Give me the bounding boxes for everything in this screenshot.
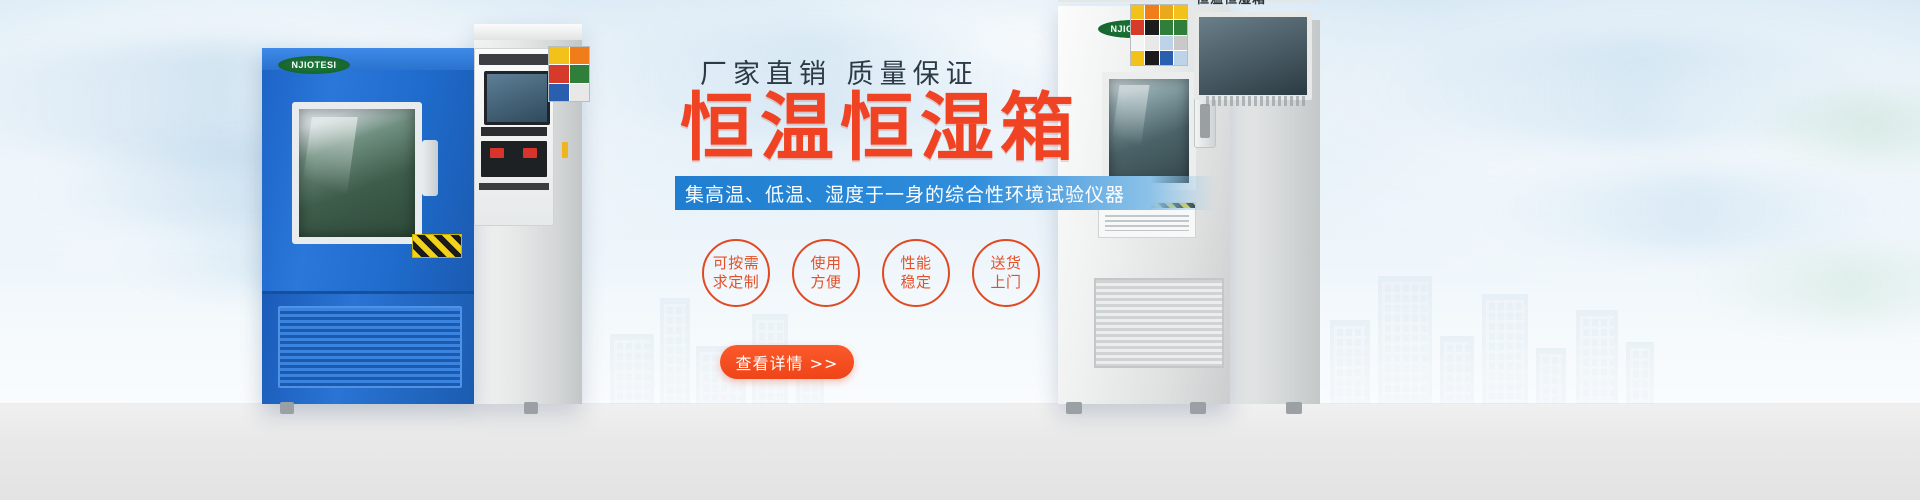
chamber-body: NJIOTESI (262, 48, 474, 404)
promo-banner: NJIOTESI (0, 0, 1920, 500)
safety-sticker (570, 84, 590, 101)
product-image-left-chamber: NJIOTESI (262, 24, 582, 404)
feature-badge-delivery[interactable]: 送货 上门 (972, 239, 1040, 307)
badge-line-2: 方便 (810, 273, 841, 292)
chamber-viewport-window (292, 102, 422, 244)
badge-line-1: 使用 (810, 254, 841, 273)
feature-badge-stable[interactable]: 性能 稳定 (882, 239, 950, 307)
badge-line-2: 上门 (990, 273, 1021, 292)
view-details-button[interactable]: 查看详情 >> (720, 345, 854, 379)
amber-indicator (562, 142, 568, 158)
control-panel-display (484, 71, 550, 125)
machine-foot (524, 402, 538, 414)
feature-badge-list: 可按需 求定制 使用 方便 性能 稳定 送货 上门 (702, 230, 1222, 316)
chamber-side-top (474, 24, 582, 40)
hazard-stripe-label (412, 234, 462, 258)
feature-badge-easy-use[interactable]: 使用 方便 (792, 239, 860, 307)
control-panel-footer (479, 183, 549, 190)
banner-copy-block: 厂家直销 质量保证 恒温恒湿箱 集高温、低温、湿度于一身的综合性环境试验仪器 可… (690, 0, 1250, 500)
safety-sticker-grid (548, 46, 590, 102)
banner-subtitle: 集高温、低温、湿度于一身的综合性环境试验仪器 (675, 180, 1125, 207)
badge-line-1: 性能 (900, 254, 931, 273)
safety-sticker (570, 65, 590, 82)
control-panel-strip (481, 127, 547, 136)
cloud-wisp (1480, 170, 1900, 250)
banner-headline: 恒温恒湿箱 (680, 86, 1200, 170)
brand-logo-text: NJIOTESI (278, 56, 350, 74)
glass-glare (298, 117, 357, 213)
chamber-lower-unit (262, 291, 474, 404)
control-panel-led-row (481, 141, 547, 177)
badge-line-1: 可按需 (713, 254, 760, 273)
city-skyline (1330, 256, 1850, 406)
badge-line-1: 送货 (990, 254, 1021, 273)
badge-line-2: 稳定 (900, 273, 931, 292)
safety-sticker (570, 47, 590, 64)
control-panel (474, 48, 554, 226)
machine-foot (1286, 402, 1302, 414)
led-indicator (523, 148, 537, 158)
control-panel-caption (479, 54, 549, 65)
safety-sticker (549, 84, 569, 101)
chamber-door-handle (422, 140, 438, 196)
ventilation-grille (278, 306, 462, 388)
led-indicator (490, 148, 504, 158)
banner-subtitle-bar: 集高温、低温、湿度于一身的综合性环境试验仪器 (675, 176, 1215, 210)
feature-badge-custom[interactable]: 可按需 求定制 (702, 239, 770, 307)
badge-line-2: 求定制 (713, 273, 760, 292)
machine-foot (280, 402, 294, 414)
brand-logo: NJIOTESI (278, 56, 350, 74)
safety-sticker (549, 65, 569, 82)
safety-sticker (549, 47, 569, 64)
